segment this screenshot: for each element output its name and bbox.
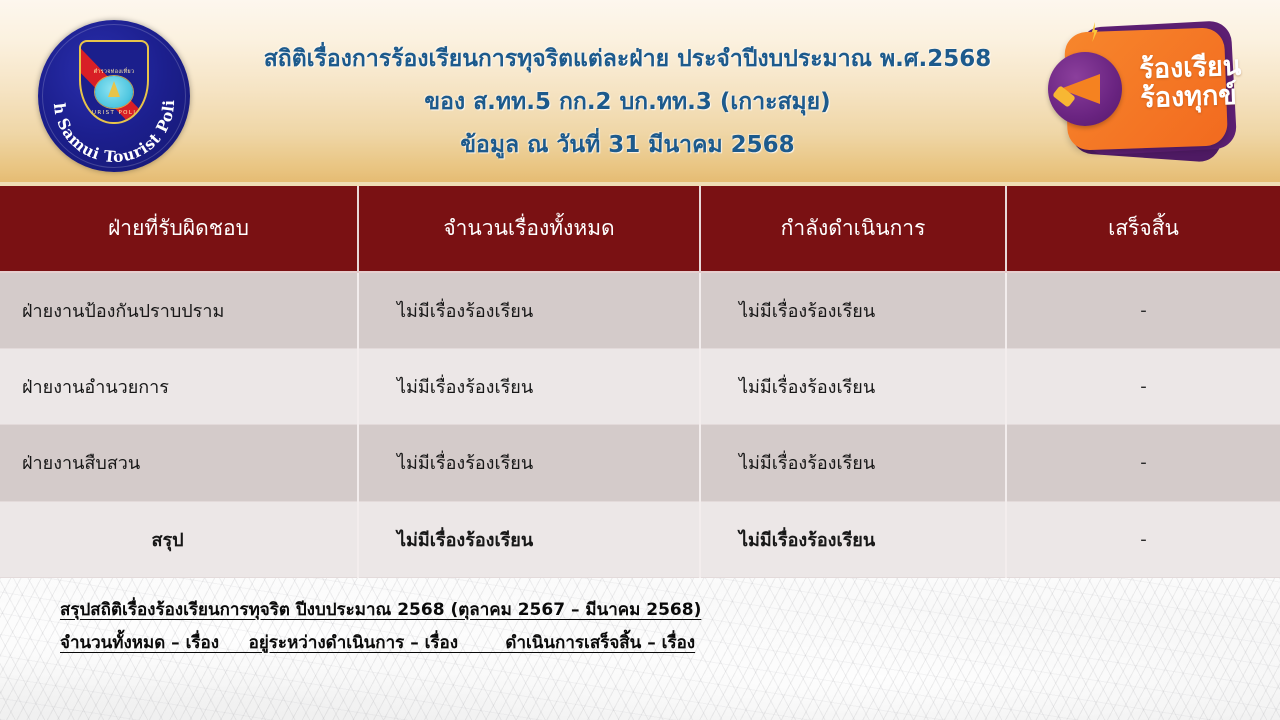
column-header-total: จำนวนเรื่องทั้งหมด: [358, 186, 700, 272]
cell-total: ไม่มีเรื่องร้องเรียน: [358, 272, 700, 348]
column-header-in-progress: กำลังดำเนินการ: [700, 186, 1006, 272]
table-row-summary: สรุป ไม่มีเรื่องร้องเรียน ไม่มีเรื่องร้อ…: [0, 501, 1280, 577]
statistics-table: ฝ่ายที่รับผิดชอบ จำนวนเรื่องทั้งหมด กำลั…: [0, 186, 1280, 578]
slide-root: ตำรวจท่องเที่ยว TOURIST POLICE Koh Samui…: [0, 0, 1280, 720]
cell-total: ไม่มีเรื่องร้องเรียน: [358, 425, 700, 501]
column-header-department: ฝ่ายที่รับผิดชอบ: [0, 186, 358, 272]
statistics-table-container: ฝ่ายที่รับผิดชอบ จำนวนเรื่องทั้งหมด กำลั…: [0, 186, 1280, 578]
badge-label-line-2: ร้องทุกข์: [1140, 80, 1238, 114]
cell-in-progress: ไม่มีเรื่องร้องเรียน: [700, 425, 1006, 501]
table-header: ฝ่ายที่รับผิดชอบ จำนวนเรื่องทั้งหมด กำลั…: [0, 186, 1280, 272]
table-body: ฝ่ายงานป้องกันปราบปราม ไม่มีเรื่องร้องเร…: [0, 272, 1280, 578]
table-header-row: ฝ่ายที่รับผิดชอบ จำนวนเรื่องทั้งหมด กำลั…: [0, 186, 1280, 272]
footer-summary-line-1: สรุปสถิติเรื่องร้องเรียนการทุจริต ปีงบปร…: [60, 602, 1280, 619]
cell-completed: -: [1006, 348, 1280, 424]
page-title-line-1: สถิติเรื่องการร้องเรียนการทุจริตแต่ละฝ่า…: [215, 48, 1040, 71]
cell-in-progress: ไม่มีเรื่องร้องเรียน: [700, 501, 1006, 577]
cell-completed: -: [1006, 501, 1280, 577]
cell-total: ไม่มีเรื่องร้องเรียน: [358, 348, 700, 424]
cell-department: ฝ่ายงานสืบสวน: [0, 425, 358, 501]
cell-department: ฝ่ายงานป้องกันปราบปราม: [0, 272, 358, 348]
cell-completed: -: [1006, 272, 1280, 348]
cell-total: ไม่มีเรื่องร้องเรียน: [358, 501, 700, 577]
header-titles: สถิติเรื่องการร้องเรียนการทุจริตแต่ละฝ่า…: [215, 48, 1040, 157]
cell-department: ฝ่ายงานอำนวยการ: [0, 348, 358, 424]
table-row: ฝ่ายงานป้องกันปราบปราม ไม่มีเรื่องร้องเร…: [0, 272, 1280, 348]
emblem-curved-text: Koh Samui Tourist Police: [38, 20, 190, 172]
complaint-badge-icon: ร้องเรียน ร้องทุกข์: [1044, 14, 1252, 172]
cell-completed: -: [1006, 425, 1280, 501]
summary-footer: สรุปสถิติเรื่องร้องเรียนการทุจริต ปีงบปร…: [0, 578, 1280, 720]
page-title-line-2: ของ ส.ทท.5 กก.2 บก.ทท.3 (เกาะสมุย): [215, 91, 1040, 114]
emblem-curved-label: Koh Samui Tourist Police: [38, 20, 178, 166]
column-header-completed: เสร็จสิ้น: [1006, 186, 1280, 272]
badge-label: ร้องเรียน ร้องทุกข์: [1139, 52, 1263, 114]
table-row: ฝ่ายงานสืบสวน ไม่มีเรื่องร้องเรียน ไม่มี…: [0, 425, 1280, 501]
cell-in-progress: ไม่มีเรื่องร้องเรียน: [700, 348, 1006, 424]
megaphone-icon: [1048, 52, 1122, 126]
header-banner: ตำรวจท่องเที่ยว TOURIST POLICE Koh Samui…: [0, 0, 1280, 186]
table-row: ฝ่ายงานอำนวยการ ไม่มีเรื่องร้องเรียน ไม่…: [0, 348, 1280, 424]
page-title-line-3: ข้อมูล ณ วันที่ 31 มีนาคม 2568: [215, 134, 1040, 157]
cell-department: สรุป: [0, 501, 358, 577]
cell-in-progress: ไม่มีเรื่องร้องเรียน: [700, 272, 1006, 348]
koh-samui-tourist-police-emblem-icon: ตำรวจท่องเที่ยว TOURIST POLICE Koh Samui…: [38, 20, 190, 172]
footer-summary-line-2: จำนวนทั้งหมด – เรื่อง อยู่ระหว่างดำเนินก…: [60, 635, 1280, 652]
